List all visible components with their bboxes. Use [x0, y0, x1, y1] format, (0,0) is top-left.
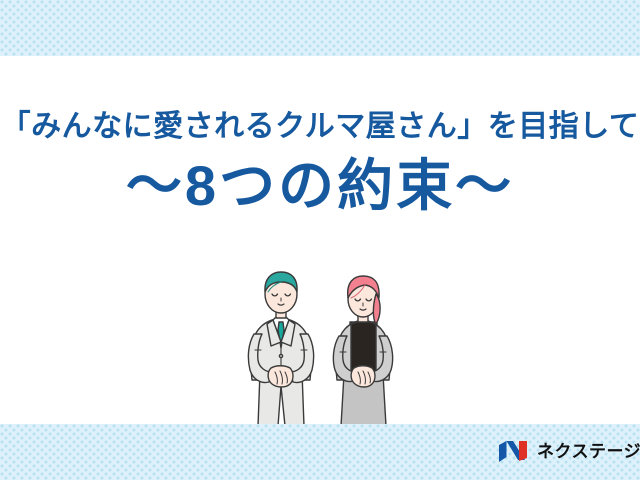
nextage-logo: ネクステージ: [497, 436, 640, 466]
logo-wordmark: ネクステージ: [537, 443, 640, 460]
promo-banner: 「みんなに愛されるクルマ屋さん」を目指して ～8つの約束～: [0, 0, 640, 480]
headline-line-1: 「みんなに愛されるクルマ屋さん」を目指して: [0, 112, 640, 142]
top-dot-band: [0, 0, 640, 56]
nextage-n-mark: [497, 439, 530, 464]
headline-block: 「みんなに愛されるクルマ屋さん」を目指して ～8つの約束～: [0, 112, 640, 214]
male-staff-figure: [248, 272, 313, 426]
female-staff-figure: [333, 276, 392, 426]
two-staff-bowing-illustration: [238, 268, 418, 428]
headline-line-2: ～8つの約束～: [0, 158, 640, 214]
